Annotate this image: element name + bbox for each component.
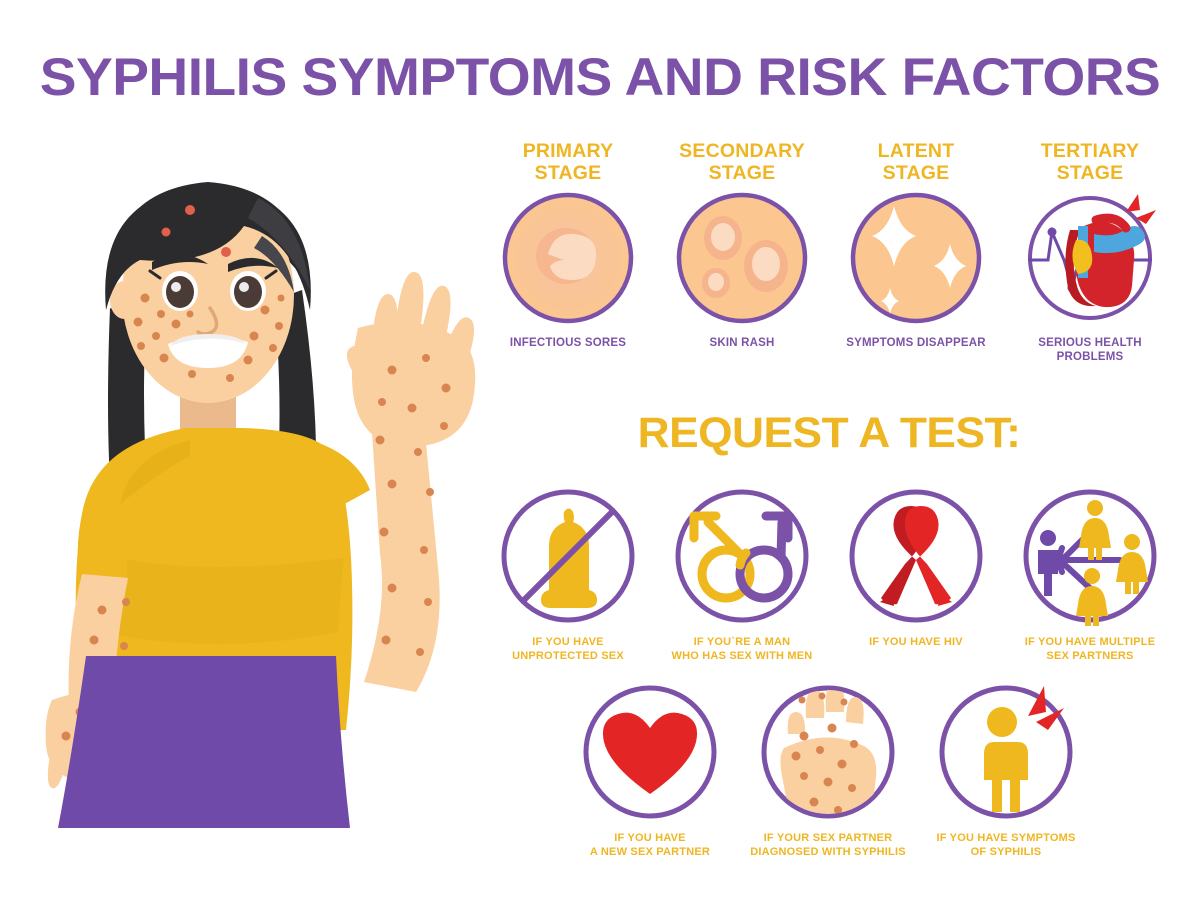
page-title: SYPHILIS SYMPTOMS AND RISK FACTORS [0,48,1200,108]
risk-partner-diagnosed: IF YOUR SEX PARTNER DIAGNOSED WITH SYPHI… [744,678,912,859]
risk-msm-caption: IF YOU`RE A MAN WHO HAS SEX WITH MEN [672,636,813,663]
risk-msm: IF YOU`RE A MAN WHO HAS SEX WITH MEN [658,482,826,663]
risk-has-symptoms-caption: IF YOU HAVE SYMPTOMS OF SYPHILIS [936,832,1075,859]
stage-primary: PRIMARY STAGE INFECTI [484,140,652,380]
request-a-test-heading: REQUEST A TEST: [474,408,1185,458]
stage-primary-caption: INFECTIOUS SORES [510,336,626,350]
sparkles-icon [848,190,984,326]
woman-with-rash-illustration [40,140,480,880]
no-condom-icon [494,482,642,630]
stage-latent: LATENT STAGE SYMPTOMS DISAPPEAR [832,140,1000,380]
risk-hiv-caption: IF YOU HAVE HIV [869,636,963,650]
heart-icon [576,678,724,826]
risk-has-symptoms: IF YOU HAVE SYMPTOMS OF SYPHILIS [922,678,1090,859]
stage-latent-title: LATENT STAGE [878,140,955,186]
risk-factors-row-1: IF YOU HAVE UNPROTECTED SEX [484,482,1174,663]
person-pain-icon [932,678,1080,826]
stage-secondary-caption: SKIN RASH [709,336,774,350]
skin-rash-icon [674,190,810,326]
multiple-partners-icon [1016,482,1164,630]
skin-sore-icon [500,190,636,326]
risk-partner-diagnosed-caption: IF YOUR SEX PARTNER DIAGNOSED WITH SYPHI… [750,832,906,859]
stage-secondary-title: SECONDARY STAGE [679,140,805,186]
risk-multiple-partners: IF YOU HAVE MULTIPLE SEX PARTNERS [1006,482,1174,663]
heart-ecg-icon [1022,190,1158,326]
stage-tertiary-caption: SERIOUS HEALTH PROBLEMS [1006,336,1174,364]
risk-unprotected-sex: IF YOU HAVE UNPROTECTED SEX [484,482,652,663]
infographic-poster: SYPHILIS SYMPTOMS AND RISK FACTORS [0,0,1200,900]
risk-multiple-partners-caption: IF YOU HAVE MULTIPLE SEX PARTNERS [1025,636,1156,663]
risk-unprotected-sex-caption: IF YOU HAVE UNPROTECTED SEX [512,636,624,663]
stage-tertiary-title: TERTIARY STAGE [1041,140,1139,186]
risk-hiv: IF YOU HAVE HIV [832,482,1000,663]
awareness-ribbon-icon [842,482,990,630]
double-male-symbol-icon [668,482,816,630]
stage-primary-title: PRIMARY STAGE [523,140,614,186]
stages-section: PRIMARY STAGE INFECTI [484,140,1174,380]
stage-secondary: SECONDARY STAGE SKIN RASH [658,140,826,380]
rash-hand-icon [754,678,902,826]
stage-tertiary: TERTIARY STAGE [1006,140,1174,380]
risk-new-partner-caption: IF YOU HAVE A NEW SEX PARTNER [590,832,710,859]
risk-new-partner: IF YOU HAVE A NEW SEX PARTNER [566,678,734,859]
risk-factors-row-2: IF YOU HAVE A NEW SEX PARTNER [566,678,1090,859]
stage-latent-caption: SYMPTOMS DISAPPEAR [846,336,986,350]
